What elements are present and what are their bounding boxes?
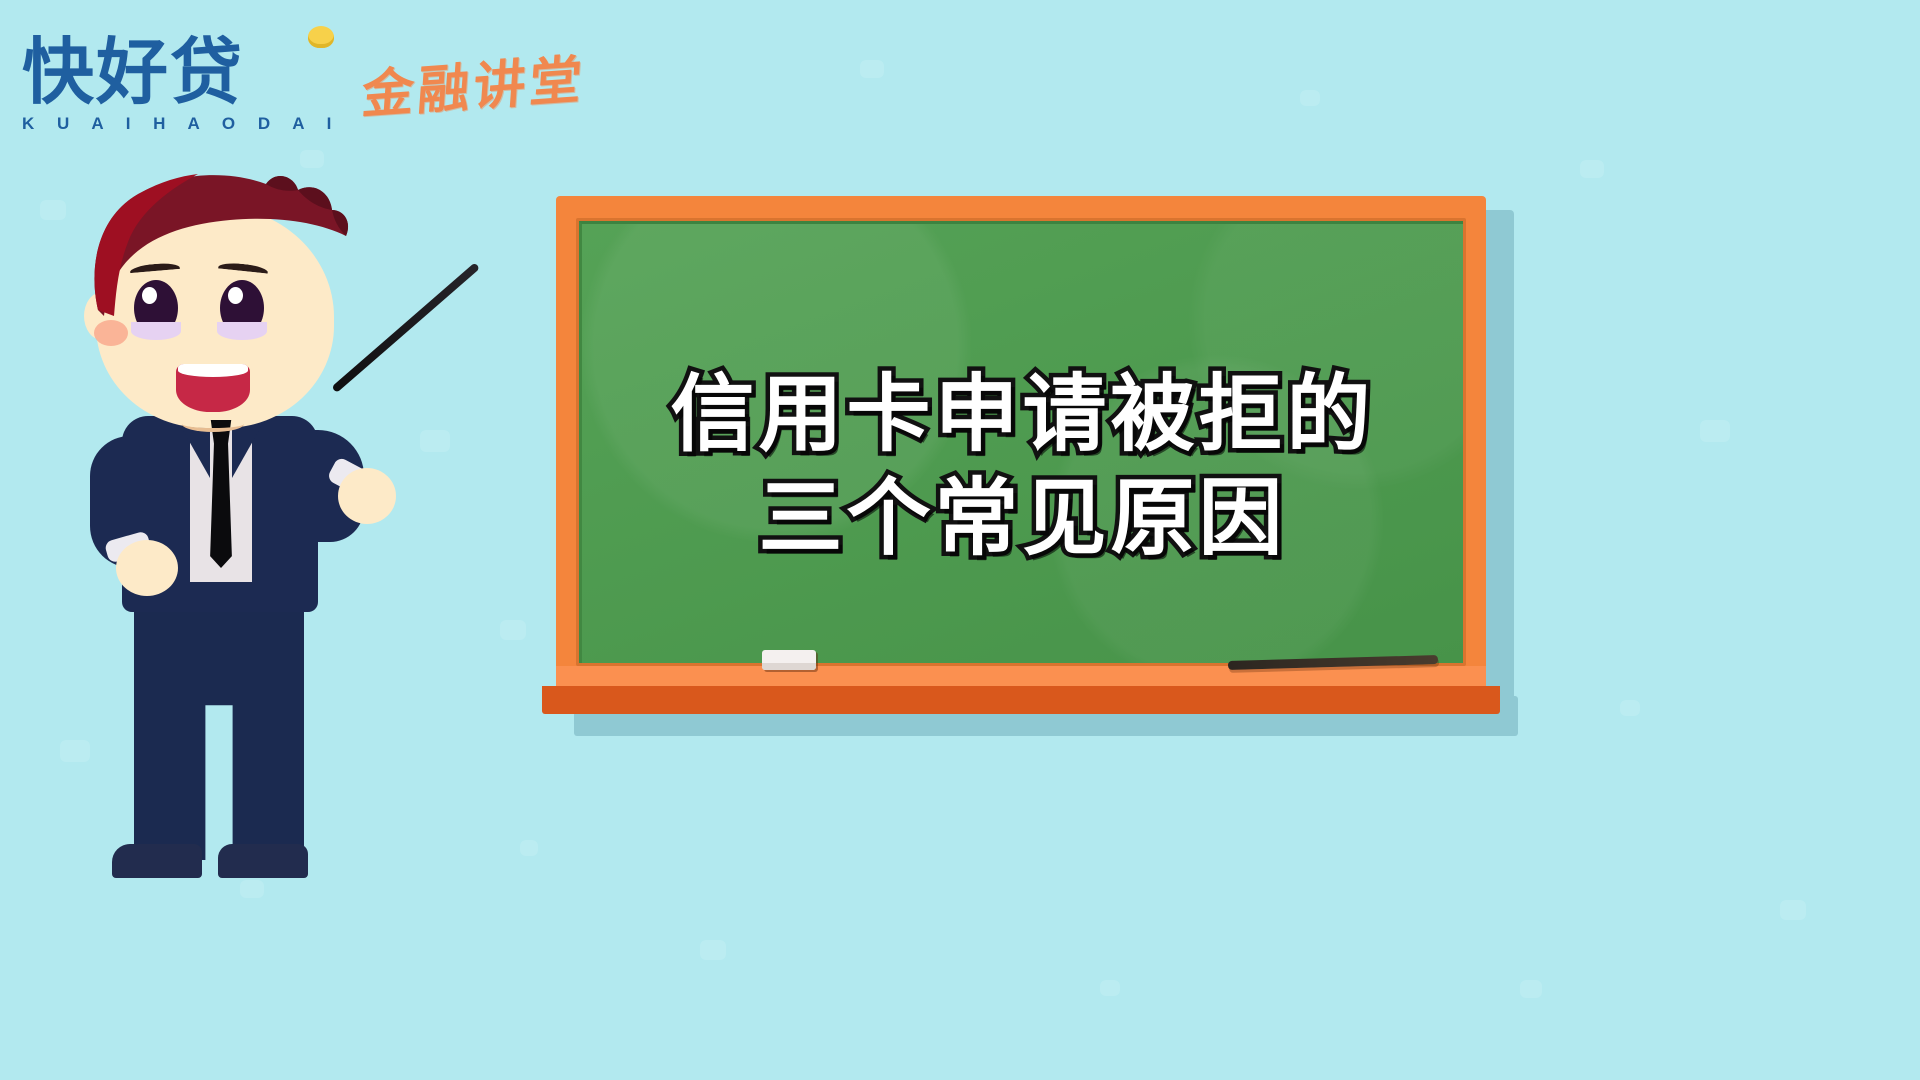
blackboard-surface: 信用卡申请被拒的 三个常见原因 [579,221,1463,663]
hand-left [116,540,178,596]
chalk-ledge-front [542,686,1500,714]
eraser-icon [762,650,816,670]
mouth [176,364,250,412]
eye-right [220,280,264,336]
cartoon-businessman [72,168,552,968]
blackboard-inner-frame: 信用卡申请被拒的 三个常见原因 [576,218,1466,666]
eraser-felt [762,663,816,670]
chalk-ledge-top [556,666,1486,686]
brand-logo: 快好贷 K U A I H A O D A I 金融讲堂 [22,36,586,134]
blackboard-title-line-2: 三个常见原因 [758,469,1286,568]
shoe-right [218,844,308,878]
cheek-blush [94,320,128,346]
mouth-teeth [178,364,248,377]
logo-mark: 快好贷 K U A I H A O D A I [22,36,340,134]
logo-brand-cn: 快好贷 [22,36,340,108]
blackboard-frame: 信用卡申请被拒的 三个常见原因 [556,196,1486,688]
blackboard-title-line-1: 信用卡申请被拒的 [670,365,1374,464]
pointer-stick-held-icon [331,262,480,393]
hair [80,170,352,320]
chin-line [182,416,244,432]
hand-right [338,468,396,524]
eye-left [134,280,178,336]
coin-icon [308,26,334,48]
shoe-left [112,844,202,878]
chalk-ledge [556,666,1508,714]
logo-brand-latin: K U A I H A O D A I [22,114,340,134]
blackboard: 信用卡申请被拒的 三个常见原因 [556,196,1500,716]
trousers [134,602,304,860]
logo-tagline: 金融讲堂 [360,37,589,128]
